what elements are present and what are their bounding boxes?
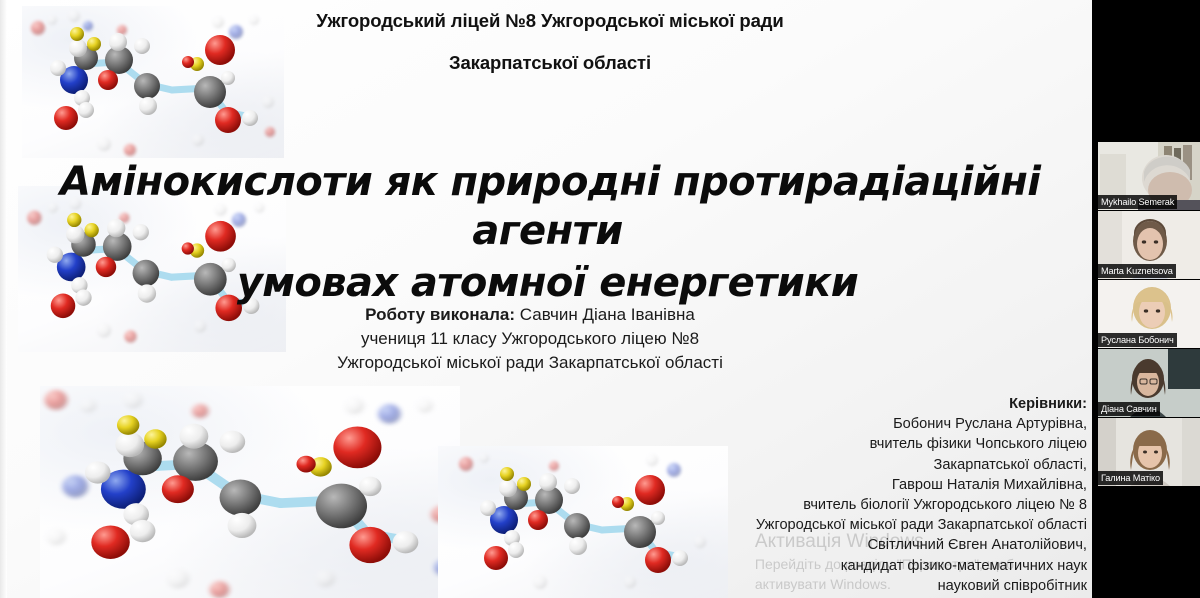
page-title: Амінокислоти як природні протирадіаційні…: [60, 158, 1035, 308]
video-tile[interactable]: Діана Савчин: [1098, 349, 1200, 417]
author-name-line: Роботу виконала: Савчин Діана Іванівна: [150, 303, 910, 327]
participant-name: Галина Матіко: [1098, 471, 1163, 485]
supervisor-line-9: науковий співробітник: [527, 576, 1087, 596]
participant-name: Руслана Бобонич: [1098, 333, 1177, 347]
supervisor-line-3: Закарпатської області,: [527, 455, 1087, 475]
video-participant-panel[interactable]: Mykhailo Semerak Marta Kuznetsova: [1092, 0, 1200, 598]
title-line-3: умовах атомної енергетики: [60, 259, 1035, 308]
author-detail-line-1: учениця 11 класу Ужгородського ліцею №8: [150, 327, 910, 351]
presentation-slide: Ужгородський ліцей №8 Ужгородської міськ…: [0, 0, 1092, 598]
screen: Ужгородський ліцей №8 Ужгородської міськ…: [0, 0, 1200, 598]
supervisors-heading: Керівники:: [527, 394, 1087, 414]
supervisors-block: Керівники: Бобонич Руслана Артурівна, вч…: [527, 394, 1087, 598]
participant-name: Marta Kuznetsova: [1098, 264, 1176, 278]
supervisor-line-6: Ужгородської міської ради Закарпатської …: [527, 515, 1087, 535]
supervisor-line-8: кандидат фізико-математичних наук: [527, 556, 1087, 576]
participant-name: Діана Савчин: [1098, 402, 1160, 416]
supervisor-line-5: вчитель біології Ужгородського ліцею № 8: [527, 495, 1087, 515]
title-line-2: агенти: [60, 207, 1035, 256]
header-line-2: Закарпатської області: [130, 54, 970, 73]
video-thumbnail-strip: Mykhailo Semerak Marta Kuznetsova: [1098, 142, 1200, 486]
video-tile[interactable]: Mykhailo Semerak: [1098, 142, 1200, 210]
title-line-1: Амінокислоти як природні протирадіаційні: [60, 158, 1035, 207]
molecule-diagram: [40, 386, 460, 598]
supervisor-line-2: вчитель фізики Чопського ліцею: [527, 434, 1087, 454]
author-label: Роботу виконала:: [365, 305, 515, 324]
supervisor-line-4: Гаврош Наталія Михайлівна,: [527, 475, 1087, 495]
video-tile[interactable]: Руслана Бобонич: [1098, 280, 1200, 348]
molecule-image-bottom-left: [40, 386, 460, 598]
video-tile[interactable]: Галина Матіко: [1098, 418, 1200, 486]
header-line-1: Ужгородський ліцей №8 Ужгородської міськ…: [130, 12, 970, 31]
slide-header: Ужгородський ліцей №8 Ужгородської міськ…: [130, 12, 970, 72]
author-name: Савчин Діана Іванівна: [520, 305, 695, 324]
participant-name: Mykhailo Semerak: [1098, 195, 1177, 209]
slide-left-edge: [0, 0, 7, 598]
supervisor-line-7: Світличний Євген Анатолійович,: [527, 535, 1087, 555]
author-detail-line-2: Ужгородської міської ради Закарпатської …: [150, 351, 910, 375]
author-block: Роботу виконала: Савчин Діана Іванівна у…: [150, 303, 910, 375]
supervisor-line-1: Бобонич Руслана Артурівна,: [527, 414, 1087, 434]
video-tile[interactable]: Marta Kuznetsova: [1098, 211, 1200, 279]
